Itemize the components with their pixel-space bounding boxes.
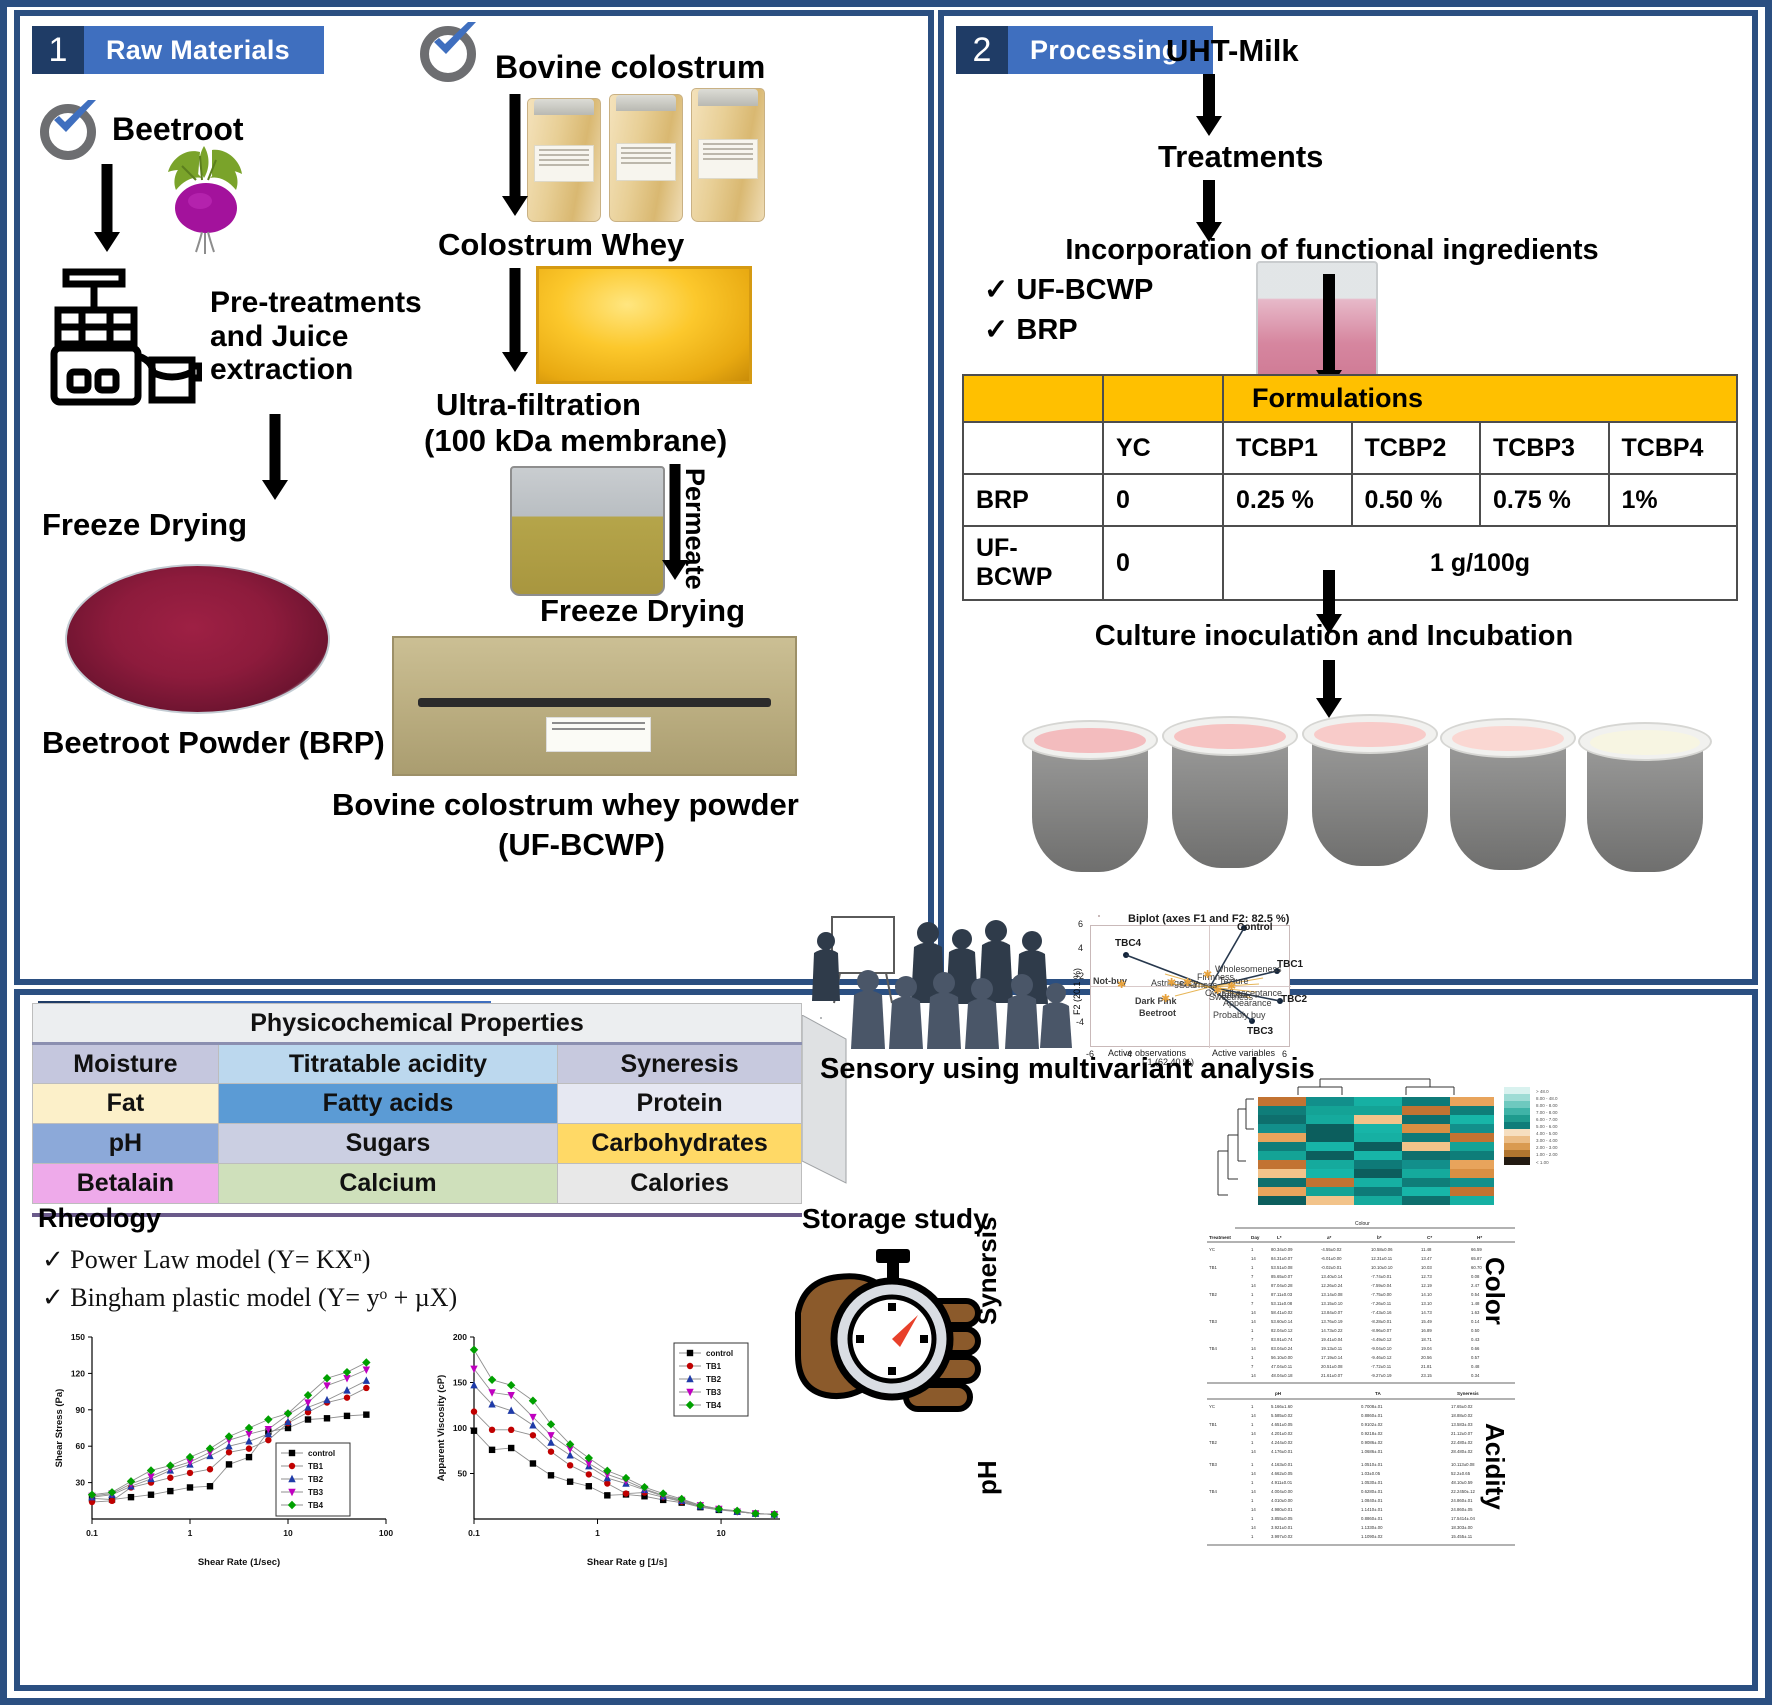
svg-text:Apparent Viscosity (cP): Apparent Viscosity (cP) [436, 1375, 447, 1481]
svg-text:10.03: 10.03 [1421, 1265, 1432, 1270]
svg-text:TB2: TB2 [1209, 1292, 1217, 1297]
svg-text:4.201±0.02: 4.201±0.02 [1271, 1431, 1293, 1436]
svg-text:14.73: 14.73 [1421, 1310, 1432, 1315]
svg-text:0.9102±.02: 0.9102±.02 [1361, 1422, 1383, 1427]
svg-text:14.10: 14.10 [1421, 1292, 1432, 1297]
svg-text:1: 1 [1251, 1534, 1254, 1539]
heatmap-legend: > 48.08.00 - 48.0 8.00 - 8.007.00 - 8.00… [1504, 1087, 1596, 1165]
svg-text:22.480±.02: 22.480±.02 [1451, 1440, 1473, 1445]
check-circle-icon-beetroot [40, 104, 96, 160]
svg-text:200: 200 [453, 1332, 467, 1342]
svg-text:1.0530±.01: 1.0530±.01 [1361, 1480, 1383, 1485]
cup-3 [1302, 714, 1438, 866]
svg-text:20.56: 20.56 [1421, 1355, 1432, 1360]
svg-text:Treatment: Treatment [1209, 1235, 1231, 1240]
svg-text:8.00 - 48.0: 8.00 - 48.0 [1536, 1096, 1558, 1101]
arrow-beetroot-to-pretreatment [92, 164, 122, 254]
permeate-label: Permeate [679, 468, 710, 590]
svg-text:5.00 - 6.00: 5.00 - 6.00 [1536, 1124, 1558, 1129]
svg-text:YC: YC [1209, 1247, 1215, 1252]
chart-shear-stress: 3060901201500.1110100Shear Rate (1/sec)S… [48, 1323, 398, 1573]
svg-text:< 1.00: < 1.00 [1536, 1160, 1549, 1165]
ingredient-2-item: ✓ BRP [984, 314, 1078, 346]
bovine-colostrum-label: Bovine colostrum [495, 50, 765, 86]
svg-text:Shear Rate g [1/s]: Shear Rate g [1/s] [587, 1557, 667, 1568]
svg-text:pH: pH [1275, 1391, 1282, 1396]
colostrum-whey-image [536, 266, 752, 384]
svg-text:1.1410±.01: 1.1410±.01 [1361, 1507, 1383, 1512]
svg-text:83.91±0.74: 83.91±0.74 [1271, 1337, 1293, 1342]
ingredient-1-label: UF-BCWP [1016, 274, 1153, 306]
svg-text:TB3: TB3 [1209, 1462, 1217, 1467]
svg-text:-7.26±0.11: -7.26±0.11 [1371, 1301, 1392, 1306]
svg-text:4.00 - 5.00: 4.00 - 5.00 [1536, 1131, 1558, 1136]
freeze-drying-label-1: Freeze Drying [42, 508, 247, 543]
svg-text:4.004±0.00: 4.004±0.00 [1271, 1489, 1293, 1494]
colostrum-bottles-image [525, 84, 775, 224]
cup-1 [1022, 720, 1158, 872]
svg-text:-0.02±0.01: -0.02±0.01 [1321, 1265, 1342, 1270]
svg-text:C*: C* [1427, 1235, 1432, 1240]
svg-text:120: 120 [71, 1368, 85, 1378]
brp-tcbp3: 0.75 % [1480, 474, 1609, 526]
svg-text:-8.28±0.01: -8.28±0.01 [1371, 1319, 1392, 1324]
svg-text:2.00 - 3.00: 2.00 - 3.00 [1536, 1145, 1558, 1150]
biplot-label-tbc2: TBC2 [1281, 994, 1307, 1005]
svg-text:87.11±0.03: 87.11±0.03 [1271, 1292, 1293, 1297]
svg-text:TB2: TB2 [308, 1475, 324, 1484]
svg-text:18.71: 18.71 [1421, 1337, 1432, 1342]
prop-fat: Fat [33, 1084, 219, 1124]
prop-carbohydrates: Carbohydrates [558, 1124, 802, 1164]
stopwatch-hand-icon [788, 1243, 998, 1433]
svg-text:-7.72±0.11: -7.72±0.11 [1371, 1364, 1392, 1369]
yogurt-cups-image [1022, 712, 1712, 882]
svg-text:12.19: 12.19 [1421, 1283, 1432, 1288]
formulations-col-yc: YC [1103, 422, 1223, 474]
svg-text:-7.74±0.01: -7.74±0.01 [1371, 1274, 1392, 1279]
svg-text:0.54: 0.54 [1471, 1292, 1480, 1297]
svg-text:0.66: 0.66 [1471, 1346, 1480, 1351]
svg-text:7: 7 [1251, 1301, 1254, 1306]
svg-text:3.855±0.05: 3.855±0.05 [1271, 1516, 1293, 1521]
svg-text:13.84±0.07: 13.84±0.07 [1321, 1310, 1343, 1315]
check-circle-icon-colostrum [420, 26, 476, 82]
svg-text:4.244±0.02: 4.244±0.02 [1271, 1440, 1293, 1445]
beetroot-label: Beetroot [112, 112, 244, 148]
svg-text:TB1: TB1 [1209, 1265, 1217, 1270]
svg-text:7: 7 [1251, 1274, 1254, 1279]
svg-text:10.58±0.06: 10.58±0.06 [1371, 1247, 1393, 1252]
svg-text:13.583±.03: 13.583±.03 [1451, 1422, 1473, 1427]
svg-text:1.0840±.01: 1.0840±.01 [1361, 1498, 1383, 1503]
rheology-model-1-label: Power Law model (Y= KXⁿ) [70, 1245, 370, 1274]
svg-text:L*: L* [1277, 1235, 1282, 1240]
svg-text:17.5414±.04: 17.5414±.04 [1451, 1516, 1475, 1521]
svg-text:10.10±0.10: 10.10±0.10 [1371, 1265, 1393, 1270]
svg-text:17.65±0.02: 17.65±0.02 [1451, 1404, 1473, 1409]
prop-moisture: Moisture [33, 1044, 219, 1084]
svg-text:13.14±0.08: 13.14±0.08 [1321, 1292, 1343, 1297]
side-label-ph: pH [972, 1460, 1003, 1495]
svg-text:83.04±0.24: 83.04±0.24 [1271, 1346, 1293, 1351]
formulations-blank-cell [1103, 375, 1223, 422]
svg-text:1.48: 1.48 [1471, 1301, 1480, 1306]
svg-text:0.34: 0.34 [1471, 1373, 1480, 1378]
svg-text:TB3: TB3 [308, 1488, 324, 1497]
svg-text:1: 1 [1251, 1462, 1254, 1467]
svg-text:-9.27±0.19: -9.27±0.19 [1371, 1373, 1392, 1378]
svg-text:0.9086±.02: 0.9086±.02 [1361, 1440, 1383, 1445]
svg-text:10: 10 [283, 1528, 293, 1538]
svg-text:1: 1 [1251, 1404, 1254, 1409]
svg-text:0.08: 0.08 [1471, 1274, 1480, 1279]
svg-text:-4.55±0.02: -4.55±0.02 [1321, 1247, 1342, 1252]
svg-text:1.0686±.01: 1.0686±.01 [1361, 1449, 1383, 1454]
formulations-row-label-blank [963, 422, 1103, 474]
svg-text:1: 1 [595, 1528, 600, 1538]
bcwp-label: Bovine colostrum whey powder [332, 788, 799, 823]
sensory-people-graphic [810, 907, 1072, 1057]
svg-text:14: 14 [1251, 1413, 1256, 1418]
svg-text:Colour: Colour [1355, 1221, 1370, 1227]
check-icon-brp: ✓ [984, 314, 1008, 346]
panel1-number: 1 [32, 26, 84, 74]
svg-text:150: 150 [71, 1332, 85, 1342]
table-row: Fat Fatty acids Protein [33, 1084, 802, 1124]
svg-text:14: 14 [1251, 1256, 1256, 1261]
svg-text:-8.96±0.07: -8.96±0.07 [1371, 1328, 1392, 1333]
svg-text:100: 100 [379, 1528, 393, 1538]
svg-text:80.34±0.09: 80.34±0.09 [1271, 1247, 1293, 1252]
formulations-col-tcbp1: TCBP1 [1223, 422, 1352, 474]
check-icon-model-2: ✓ [42, 1283, 64, 1312]
physicochemical-table: Physicochemical Properties Moisture Titr… [32, 1003, 802, 1204]
svg-text:14: 14 [1251, 1319, 1256, 1324]
svg-text:1: 1 [1251, 1480, 1254, 1485]
svg-text:5.585±0.02: 5.585±0.02 [1271, 1413, 1293, 1418]
svg-text:1: 1 [1251, 1292, 1254, 1297]
svg-text:2.47: 2.47 [1471, 1283, 1480, 1288]
svg-text:1: 1 [1251, 1440, 1254, 1445]
ultrafiltration-beaker-image [510, 466, 665, 596]
svg-text:7: 7 [1251, 1364, 1254, 1369]
physicochemical-title: Physicochemical Properties [33, 1004, 802, 1044]
svg-text:TB2: TB2 [706, 1375, 722, 1384]
prop-betalain: Betalain [33, 1164, 219, 1204]
svg-text:a*: a* [1327, 1235, 1332, 1240]
biplot-ylabel: F2 (20.1 %) [1072, 968, 1082, 1015]
svg-text:1: 1 [1251, 1516, 1254, 1521]
svg-text:TB2: TB2 [1209, 1440, 1217, 1445]
svg-text:19.41±0.04: 19.41±0.04 [1321, 1337, 1343, 1342]
svg-text:48.04±0.18: 48.04±0.18 [1271, 1373, 1293, 1378]
biplot-ytick-6: 6 [1078, 919, 1083, 929]
svg-text:-6.01±0.00: -6.01±0.00 [1321, 1256, 1342, 1261]
table-row: Moisture Titratable acidity Syneresis [33, 1044, 802, 1084]
svg-text:-7.75±0.00: -7.75±0.00 [1371, 1292, 1392, 1297]
colostrum-whey-label: Colostrum Whey [438, 228, 684, 263]
svg-text:14: 14 [1251, 1431, 1256, 1436]
ingredient-2-label: BRP [1016, 314, 1077, 346]
svg-text:4.662±0.05: 4.662±0.05 [1271, 1471, 1293, 1476]
formulations-header-row: Formulations [963, 375, 1737, 422]
arrow-whey-to-ultrafiltration [500, 268, 530, 378]
storage-color-table: Colour TreatmentDay L*a* b*C*H* YC 180.3… [1205, 1217, 1525, 1457]
svg-text:Shear Rate (1/sec): Shear Rate (1/sec) [198, 1557, 280, 1568]
svg-text:0.8860±.01: 0.8860±.01 [1361, 1413, 1383, 1418]
panel-processing: 2 Processing UHT-Milk Treatments Incorpo… [938, 10, 1758, 985]
brp-row-label: BRP [963, 474, 1103, 526]
svg-text:24.860±.05: 24.860±.05 [1451, 1507, 1473, 1512]
svg-text:b*: b* [1377, 1235, 1382, 1240]
svg-text:0.8860±.01: 0.8860±.01 [1361, 1516, 1383, 1521]
cup-4 [1440, 718, 1576, 870]
biplot-var-darkpink: Dark Pink [1135, 996, 1177, 1006]
svg-text:-9.46±0.12: -9.46±0.12 [1371, 1355, 1392, 1360]
brp-tcbp1: 0.25 % [1223, 474, 1352, 526]
svg-text:4.010±0.00: 4.010±0.00 [1271, 1498, 1293, 1503]
biplot-container: Biplot (axes F1 and F2: 82.5 %) TBC [1042, 907, 1372, 1062]
cup-2 [1162, 716, 1298, 868]
svg-text:52.2±0.65: 52.2±0.65 [1451, 1471, 1471, 1476]
pretreatment-label: Pre-treatments and Juice extraction [210, 286, 430, 387]
panel-raw-materials: 1 Raw Materials Beetroot [14, 10, 934, 985]
svg-text:14.73±0.22: 14.73±0.22 [1321, 1328, 1343, 1333]
svg-text:19.13±0.11: 19.13±0.11 [1321, 1346, 1343, 1351]
svg-text:24.860±.01: 24.860±.01 [1451, 1498, 1473, 1503]
bcwp-pouch-image [392, 636, 797, 776]
svg-text:TA: TA [1375, 1391, 1381, 1396]
svg-text:1: 1 [1251, 1355, 1254, 1360]
prop-calcium: Calcium [218, 1164, 557, 1204]
svg-text:4.911±0.01: 4.911±0.01 [1271, 1480, 1293, 1485]
svg-text:TB4: TB4 [706, 1401, 722, 1410]
prop-ph: pH [33, 1124, 219, 1164]
biplot-label-tbc3: TBC3 [1247, 1026, 1273, 1037]
svg-text:18.88±0.02: 18.88±0.02 [1451, 1413, 1473, 1418]
svg-text:3.00 - 4.00: 3.00 - 4.00 [1536, 1138, 1558, 1143]
svg-text:53.51±0.08: 53.51±0.08 [1271, 1265, 1293, 1270]
svg-text:0.1: 0.1 [86, 1528, 98, 1538]
svg-text:0.1: 0.1 [468, 1528, 480, 1538]
svg-text:Day: Day [1251, 1235, 1260, 1240]
cup-5 [1578, 722, 1712, 872]
svg-text:1: 1 [1251, 1265, 1254, 1270]
svg-text:-9.04±0.10: -9.04±0.10 [1371, 1346, 1392, 1351]
panel1-title: Raw Materials [84, 26, 324, 74]
storage-study-caption: Storage study [802, 1203, 989, 1234]
table-row: Betalain Calcium Calories [33, 1164, 802, 1204]
svg-text:1: 1 [188, 1528, 193, 1538]
formulations-table: Formulations YC TCBP1 TCBP2 TCBP3 TCBP4 … [962, 374, 1738, 601]
svg-text:23.15: 23.15 [1421, 1373, 1432, 1378]
svg-text:60: 60 [76, 1441, 86, 1451]
svg-text:-7.59±0.04: -7.59±0.04 [1371, 1283, 1392, 1288]
check-icon-ufbcwp: ✓ [984, 274, 1008, 306]
svg-text:82.04±0.12: 82.04±0.12 [1271, 1328, 1293, 1333]
biplot-var-wholesomeness: Wholesomeness [1215, 964, 1282, 974]
svg-text:12.73: 12.73 [1421, 1274, 1432, 1279]
storage-acidity-table: TB3 14.163±0.011.0510±.0110.113±0.08 144… [1205, 1457, 1525, 1587]
culture-label: Culture inoculation and Incubation [934, 620, 1734, 652]
svg-text:58.41±0.02: 58.41±0.02 [1271, 1310, 1293, 1315]
svg-text:14: 14 [1251, 1471, 1256, 1476]
formulations-col-tcbp3: TCBP3 [1480, 422, 1609, 474]
svg-text:14: 14 [1251, 1373, 1256, 1378]
formulations-col-tcbp2: TCBP2 [1352, 422, 1481, 474]
svg-text:12.26±0.24: 12.26±0.24 [1321, 1283, 1343, 1288]
svg-text:3.997±0.02: 3.997±0.02 [1271, 1534, 1293, 1539]
svg-text:14: 14 [1251, 1283, 1256, 1288]
svg-text:85.65±0.07: 85.65±0.07 [1271, 1274, 1293, 1279]
svg-text:13.10: 13.10 [1421, 1301, 1432, 1306]
svg-text:10: 10 [716, 1528, 726, 1538]
check-icon-model-1: ✓ [42, 1245, 64, 1274]
svg-text:17.19±0.14: 17.19±0.14 [1321, 1355, 1343, 1360]
svg-text:12.31±0.11: 12.31±0.11 [1371, 1256, 1393, 1261]
rheology-model-1: ✓ Power Law model (Y= KXⁿ) [42, 1245, 370, 1275]
formulations-title-cell: Formulations [1223, 375, 1737, 422]
svg-text:1.0510±.01: 1.0510±.01 [1361, 1462, 1383, 1467]
panel-analysis-results: 3 Analysis & Results Physicochemical Pro… [14, 989, 1758, 1691]
beetroot-powder-label: Beetroot Powder (BRP) [42, 726, 385, 761]
svg-text:15.49: 15.49 [1421, 1319, 1432, 1324]
svg-text:1.63: 1.63 [1471, 1310, 1480, 1315]
svg-text:21.12±0.07: 21.12±0.07 [1451, 1431, 1473, 1436]
svg-text:4.176±0.01: 4.176±0.01 [1271, 1449, 1293, 1454]
panel2-number: 2 [956, 26, 1008, 74]
ultrafiltration-sublabel: (100 kDa membrane) [424, 424, 727, 459]
biplot-label-control: Control [1237, 922, 1273, 933]
svg-text:14: 14 [1251, 1346, 1256, 1351]
table-row: pH Sugars Carbohydrates [33, 1124, 802, 1164]
svg-text:4.163±0.01: 4.163±0.01 [1271, 1462, 1293, 1467]
svg-text:19.04: 19.04 [1421, 1346, 1432, 1351]
freeze-drying-label-2: Freeze Drying [540, 594, 745, 629]
svg-text:21.81: 21.81 [1421, 1364, 1432, 1369]
svg-text:control: control [706, 1349, 733, 1358]
svg-text:14: 14 [1251, 1525, 1256, 1530]
svg-text:14: 14 [1251, 1507, 1256, 1512]
svg-text:YC: YC [1209, 1404, 1215, 1409]
svg-text:11.48: 11.48 [1421, 1247, 1432, 1252]
arrow-uht-to-treatments [1194, 74, 1224, 138]
svg-text:150: 150 [453, 1378, 467, 1388]
svg-text:100: 100 [453, 1423, 467, 1433]
svg-text:10.113±0.08: 10.113±0.08 [1451, 1462, 1475, 1467]
brp-tcbp4: 1% [1609, 474, 1738, 526]
svg-text:0.48: 0.48 [1471, 1364, 1480, 1369]
ufbcwp-yc: 0 [1103, 526, 1223, 600]
uht-milk-label: UHT-Milk [1166, 34, 1299, 69]
svg-text:TB4: TB4 [1209, 1489, 1217, 1494]
biplot-label-tbc4: TBC4 [1115, 938, 1141, 949]
svg-text:14: 14 [1251, 1310, 1256, 1315]
svg-text:0.57: 0.57 [1471, 1355, 1480, 1360]
svg-text:1: 1 [1251, 1422, 1254, 1427]
svg-text:15.455±.11: 15.455±.11 [1451, 1534, 1473, 1539]
svg-text:48.10±0.59: 48.10±0.59 [1451, 1480, 1473, 1485]
bcwp-sublabel: (UF-BCWP) [498, 828, 665, 863]
svg-text:56.10±0.00: 56.10±0.00 [1271, 1355, 1293, 1360]
svg-text:Shear Stress (Pa): Shear Stress (Pa) [54, 1389, 65, 1468]
svg-text:53.11±0.08: 53.11±0.08 [1271, 1301, 1293, 1306]
svg-text:47.04±0.11: 47.04±0.11 [1271, 1364, 1293, 1369]
svg-text:H*: H* [1477, 1235, 1482, 1240]
svg-text:20.51±0.08: 20.51±0.08 [1321, 1364, 1343, 1369]
svg-text:66.59: 66.59 [1471, 1247, 1482, 1252]
svg-text:87.04±0.28: 87.04±0.28 [1271, 1283, 1293, 1288]
svg-text:22.2450±.12: 22.2450±.12 [1451, 1489, 1475, 1494]
panel1-header: 1 Raw Materials [32, 26, 324, 74]
brp-tcbp2: 0.50 % [1352, 474, 1481, 526]
treatments-label: Treatments [1158, 140, 1323, 175]
svg-text:53.60±0.14: 53.60±0.14 [1271, 1319, 1293, 1324]
svg-text:0.50: 0.50 [1471, 1328, 1480, 1333]
svg-text:13.76±0.19: 13.76±0.19 [1321, 1319, 1343, 1324]
svg-text:Syneresis: Syneresis [1457, 1391, 1479, 1396]
physicochemical-block: Physicochemical Properties Moisture Titr… [32, 1003, 802, 1204]
beetroot-image [142, 146, 272, 256]
svg-text:28.480±.02: 28.480±.02 [1451, 1449, 1473, 1454]
svg-text:13.15±0.10: 13.15±0.10 [1321, 1301, 1343, 1306]
svg-text:1.03±0.05: 1.03±0.05 [1361, 1471, 1381, 1476]
prop-titratable-acidity: Titratable acidity [218, 1044, 557, 1084]
arrow-culture-to-cups [1314, 660, 1344, 720]
svg-text:TB1: TB1 [706, 1362, 722, 1371]
svg-text:13.47: 13.47 [1421, 1256, 1432, 1261]
svg-text:14: 14 [1251, 1489, 1256, 1494]
svg-text:TB4: TB4 [308, 1501, 324, 1510]
ultrafiltration-label: Ultra-filtration [436, 388, 641, 423]
svg-text:TB3: TB3 [1209, 1319, 1217, 1324]
svg-text:7: 7 [1251, 1337, 1254, 1342]
biplot-ytick-m4: -4 [1076, 1017, 1084, 1027]
svg-text:TB1: TB1 [1209, 1422, 1217, 1427]
pc-title-row: Physicochemical Properties [33, 1004, 802, 1044]
biplot-var-probablybuy: Probably buy [1213, 1010, 1266, 1020]
svg-text:5.166±1.60: 5.166±1.60 [1271, 1404, 1293, 1409]
rheology-model-2: ✓ Bingham plastic model (Y= yᵒ + µX) [42, 1283, 457, 1313]
svg-text:21.61±0.07: 21.61±0.07 [1321, 1373, 1343, 1378]
svg-text:TB1: TB1 [308, 1462, 324, 1471]
svg-text:60.70: 60.70 [1471, 1265, 1482, 1270]
prop-protein: Protein [558, 1084, 802, 1124]
svg-text:13.40±0.14: 13.40±0.14 [1321, 1274, 1343, 1279]
svg-text:TB4: TB4 [1209, 1346, 1217, 1351]
biplot-axes-area: TBC4 TBC1 TBC2 TBC3 Control Not-buy Dark… [1090, 925, 1290, 1047]
svg-text:> 48.0: > 48.0 [1536, 1089, 1549, 1094]
table-row-ufbcwp: UF-BCWP 0 1 g/100g [963, 526, 1737, 600]
biplot-ytick-4: 4 [1078, 943, 1083, 953]
svg-text:0.6280±.01: 0.6280±.01 [1361, 1489, 1383, 1494]
arrow-pretreatment-to-freezedrying [260, 414, 290, 504]
svg-text:50: 50 [458, 1469, 468, 1479]
svg-text:18.303±.00: 18.303±.00 [1451, 1525, 1473, 1530]
svg-text:30: 30 [76, 1478, 86, 1488]
side-label-synersis: Synersis [972, 1217, 1003, 1325]
heatmap-cluster-image [1210, 1075, 1510, 1225]
arrow-colostrum-to-whey [500, 94, 530, 222]
svg-text:16.89: 16.89 [1421, 1328, 1432, 1333]
svg-text:1.00 - 2.00: 1.00 - 2.00 [1536, 1152, 1558, 1157]
svg-text:4.651±0.05: 4.651±0.05 [1271, 1422, 1293, 1427]
formulations-columns-row: YC TCBP1 TCBP2 TCBP3 TCBP4 [963, 422, 1737, 474]
svg-text:1: 1 [1251, 1328, 1254, 1333]
juicer-icon [42, 264, 202, 414]
svg-text:0.14: 0.14 [1471, 1319, 1480, 1324]
